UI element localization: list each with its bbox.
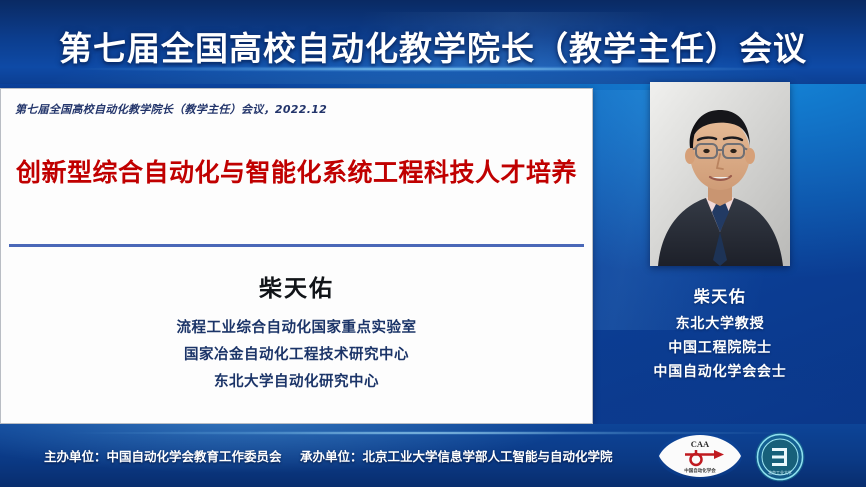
bjut-logo-icon: 北京工业大学 <box>755 432 805 482</box>
slide-speaker-name: 柴天佑 <box>1 269 592 303</box>
svg-text:CAA: CAA <box>691 439 710 449</box>
profile-title-2: 中国工程院院士 <box>625 336 815 360</box>
affiliation-line-3: 东北大学自动化研究中心 <box>1 369 592 396</box>
profile-title-1: 东北大学教授 <box>625 312 815 336</box>
slide-kicker-text: 第七届全国高校自动化教学院长（教学主任）会议，2022.12 <box>15 101 327 117</box>
conference-banner: 第七届全国高校自动化教学院长（教学主任）会议 <box>0 0 866 84</box>
footer-host-text: 承办单位：北京工业大学信息学部人工智能与自动化学院 <box>300 446 613 465</box>
title-slide-card: 第七届全国高校自动化教学院长（教学主任）会议，2022.12 创新型综合自动化与… <box>0 88 593 424</box>
footer-organizer-text: 主办单位：中国自动化学会教育工作委员会 <box>44 446 282 465</box>
presentation-slide-screen: 第七届全国高校自动化教学院长（教学主任）会议 第七届全国高校自动化教学院长（教学… <box>0 0 866 487</box>
svg-text:北京工业大学: 北京工业大学 <box>768 469 792 475</box>
profile-title-list: 东北大学教授 中国工程院院士 中国自动化学会会士 <box>625 312 815 384</box>
affiliation-line-2: 国家冶金自动化工程技术研究中心 <box>1 342 592 369</box>
conference-title: 第七届全国高校自动化教学院长（教学主任）会议 <box>0 22 866 70</box>
slide-affiliation-list: 流程工业综合自动化国家重点实验室 国家冶金自动化工程技术研究中心 东北大学自动化… <box>1 315 592 396</box>
caa-logo-icon: CAA 中国自动化学会 <box>657 432 743 480</box>
profile-name: 柴天佑 <box>630 283 810 307</box>
affiliation-line-1: 流程工业综合自动化国家重点实验室 <box>1 315 592 342</box>
profile-title-3: 中国自动化学会会士 <box>625 360 815 384</box>
speaker-portrait-photo <box>650 82 790 266</box>
slide-divider-rule <box>9 244 584 247</box>
slide-main-title: 创新型综合自动化与智能化系统工程科技人才培养 <box>1 153 592 189</box>
